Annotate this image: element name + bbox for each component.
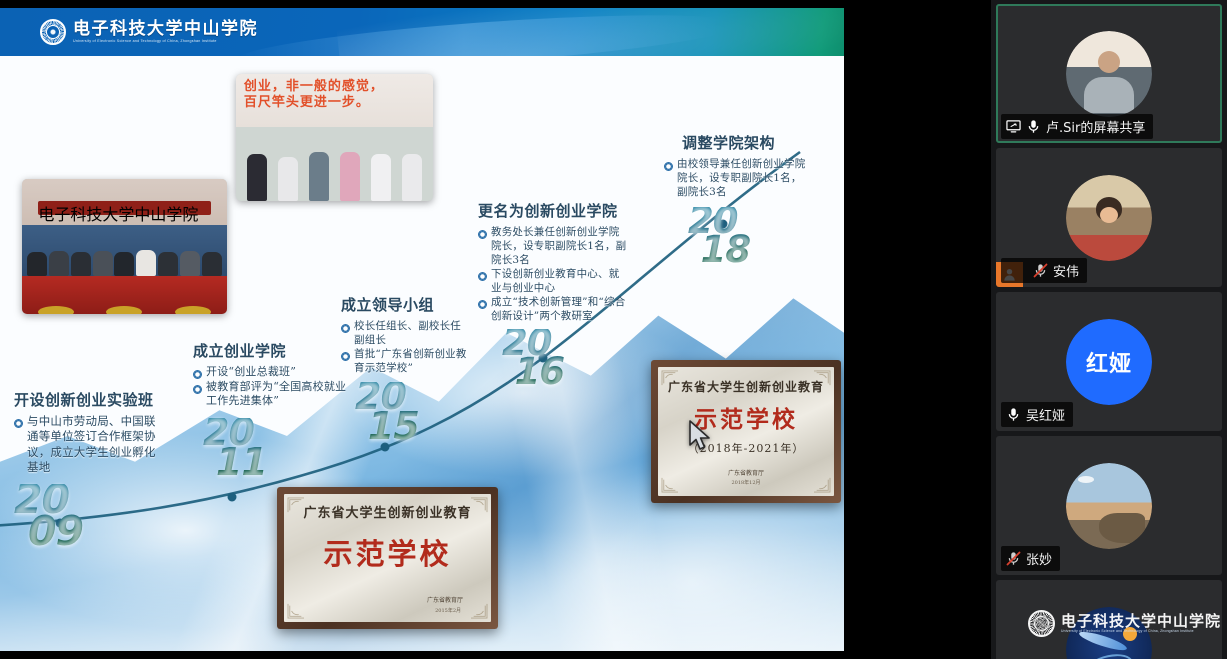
person-figure xyxy=(71,252,91,276)
person-figure xyxy=(180,251,200,276)
watermark-text-group: 电子科技大学中山学院 University of Electronic Scie… xyxy=(1061,614,1221,634)
timeline-bullet: 成立“技术创新管理”和“综合创新设计”两个教研室 xyxy=(478,295,628,323)
participant-name: 吴红娅 xyxy=(1026,405,1065,424)
flower-arrangement xyxy=(38,306,74,314)
team-photo-slogan: 创业，非一般的感觉， 百尺竿头更进一步。 xyxy=(244,79,425,112)
avatar-initials: 红娅 xyxy=(1066,319,1152,405)
person-figure xyxy=(93,251,113,276)
swirl-shape xyxy=(1085,650,1135,659)
participant-namebar: 卢.Sir的屏幕共享 xyxy=(1001,114,1153,139)
slide-header-banner: 电子科技大学中山学院 University of Electronic Scie… xyxy=(0,8,844,56)
plaque-line-1: 广东省大学生创新创业教育 xyxy=(303,502,471,521)
team-photo: 创业，非一般的感觉， 百尺竿头更进一步。 xyxy=(236,74,433,201)
participant-tile-wuhongya[interactable]: 红娅 吴红娅 xyxy=(996,292,1222,431)
plaque-corner-ornament xyxy=(470,497,488,513)
timeline-bullet: 与中山市劳动局、中国联通等单位签订合作框架协议，成立大学生创业孵化基地 xyxy=(14,414,166,476)
university-seal-icon xyxy=(1028,610,1055,637)
plaque-corner-ornament xyxy=(813,370,831,386)
timeline-year-bottom: 18 xyxy=(701,236,826,265)
timeline-bullets: 校长任组长、副校长任副组长 首批“广东省创新创业教育示范学校” xyxy=(341,319,493,375)
plaque-corner-ornament xyxy=(813,477,831,493)
person-figure xyxy=(402,154,422,201)
timeline-bullet: 首批“广东省创新创业教育示范学校” xyxy=(341,347,473,375)
timeline-bullet: 由校领导兼任创新创业学院院长，设专职副院长1名，副院长3名 xyxy=(664,157,810,199)
avatar-photo xyxy=(1066,175,1152,261)
participant-namebar: 张妙 xyxy=(1001,546,1060,571)
participant-tile-anwei[interactable]: 安伟 xyxy=(996,148,1222,287)
plaque-corner-ornament xyxy=(661,477,679,493)
ceremony-photo: 电子科技大学中山学院创业学院揭牌仪式 xyxy=(22,179,227,314)
plaque-line-1: 广东省大学生创新创业教育 xyxy=(668,378,824,395)
plaque-2018: 广东省大学生创新创业教育 示范学校 （2018年-2021年） 广东省教育厅 2… xyxy=(651,360,841,503)
plaque-corner-ornament xyxy=(287,497,305,513)
person-figure xyxy=(309,152,329,201)
team-photo-slogan-line2: 百尺竿头更进一步。 xyxy=(244,95,425,111)
timeline-year-bottom: 16 xyxy=(515,358,656,387)
participant-rail[interactable]: 卢.Sir的屏幕共享 安伟 xyxy=(991,0,1227,659)
timeline-bullets: 由校领导兼任创新创业学院院长，设专职副院长1名，副院长3名 xyxy=(664,157,826,199)
watermark-name-en: University of Electronic Science and Tec… xyxy=(1061,629,1221,633)
plaque-corner-ornament xyxy=(661,370,679,386)
timeline-entry-2018: 调整学院架构 由校领导兼任创新创业学院院长，设专职副院长1名，副院长3名 20 … xyxy=(664,132,826,265)
person-figure xyxy=(202,252,222,276)
plaque-plate: 广东省大学生创新创业教育 示范学校 （2018年-2021年） 广东省教育厅 2… xyxy=(658,367,834,496)
timeline-entry-2009: 开设创新创业实验班 与中山市劳动局、中国联通等单位签订合作框架协议，成立大学生创… xyxy=(14,389,194,548)
timeline-entry-2015: 成立领导小组 校长任组长、副校长任副组长 首批“广东省创新创业教育示范学校” 2… xyxy=(341,294,493,442)
timeline-bullet: 校长任组长、副校长任副组长 xyxy=(341,319,471,347)
person-figure xyxy=(114,252,134,276)
person-figure xyxy=(278,157,298,201)
participant-namebar: 吴红娅 xyxy=(1001,402,1073,427)
ceremony-flowers xyxy=(22,306,227,312)
flower-arrangement xyxy=(106,306,142,314)
timeline-bullet: 下设创新创业教育中心、就业与创业中心 xyxy=(478,267,628,295)
person-figure xyxy=(136,250,156,276)
ceremony-banner-text: 电子科技大学中山学院创业学院揭牌仪式 xyxy=(38,201,210,216)
shared-screen-stage[interactable]: 电子科技大学中山学院 University of Electronic Scie… xyxy=(0,0,991,659)
ceremony-people-row xyxy=(22,228,227,277)
mouse-cursor xyxy=(688,420,714,452)
plaque-date: 2018年12月 xyxy=(731,479,760,486)
presentation-slide: 电子科技大学中山学院 University of Electronic Scie… xyxy=(0,8,844,651)
timeline-bullet: 教务处长兼任创新创业学院院长，设专职副院长1名，副院长3名 xyxy=(478,225,628,267)
timeline-bullets: 与中山市劳动局、中国联通等单位签订合作框架协议，成立大学生创业孵化基地 xyxy=(14,414,194,476)
person-figure xyxy=(371,154,391,201)
timeline-bullet: 被教育部评为“全国高校就业工作先进集体” xyxy=(193,380,353,409)
screen-share-icon xyxy=(1006,119,1021,134)
plaque-plate: 广东省大学生创新创业教育 示范学校 广东省教育厅 2015年2月 xyxy=(284,494,491,622)
plaque-corner-ornament xyxy=(287,603,305,619)
participant-name: 张妙 xyxy=(1026,549,1052,568)
plaque-issuer: 广东省教育厅 xyxy=(427,595,463,604)
plaque-issuer: 广东省教育厅 xyxy=(728,468,764,477)
university-name-group: 电子科技大学中山学院 University of Electronic Scie… xyxy=(73,21,258,44)
plaque-date: 2015年2月 xyxy=(435,607,461,614)
university-name-en: University of Electronic Science and Tec… xyxy=(73,39,258,43)
person-figure xyxy=(158,252,178,276)
timeline-heading: 开设创新创业实验班 xyxy=(14,389,194,410)
avatar: 红娅 xyxy=(1066,319,1152,405)
timeline-bullets: 教务处长兼任创新创业学院院长，设专职副院长1名，副院长3名 下设创新创业教育中心… xyxy=(478,225,656,323)
person-figure xyxy=(27,252,47,276)
timeline-entry-2016: 更名为创新创业学院 教务处长兼任创新创业学院院长，设专职副院长1名，副院长3名 … xyxy=(478,200,656,387)
university-logo: 电子科技大学中山学院 University of Electronic Scie… xyxy=(40,19,258,45)
person-figure xyxy=(247,154,267,201)
plaque-line-2: 示范学校 xyxy=(323,531,451,573)
avatar-photo xyxy=(1066,31,1152,117)
timeline-year-bottom: 09 xyxy=(28,516,194,548)
plaque-corner-ornament xyxy=(470,603,488,619)
ceremony-table xyxy=(22,276,227,314)
timeline-heading: 调整学院架构 xyxy=(664,132,826,153)
watermark-name-cn: 电子科技大学中山学院 xyxy=(1061,614,1221,630)
participant-name: 安伟 xyxy=(1053,261,1079,280)
timeline-year: 20 16 xyxy=(502,329,656,387)
plaque-2015: 广东省大学生创新创业教育 示范学校 广东省教育厅 2015年2月 xyxy=(277,487,498,629)
microphone-icon xyxy=(1026,119,1041,134)
person-figure xyxy=(340,152,360,201)
participant-name: 卢.Sir的屏幕共享 xyxy=(1046,117,1145,136)
university-name-cn: 电子科技大学中山学院 xyxy=(73,21,258,39)
team-photo-slogan-line1: 创业，非一般的感觉， xyxy=(244,79,425,95)
timeline-year: 20 15 xyxy=(355,382,493,441)
microphone-muted-icon xyxy=(1006,551,1021,566)
timeline-year: 20 09 xyxy=(14,484,194,548)
participant-tile-zhangmiao[interactable]: 张妙 xyxy=(996,436,1222,575)
meeting-window: 电子科技大学中山学院 University of Electronic Scie… xyxy=(0,0,1227,659)
team-photo-people xyxy=(236,122,433,201)
timeline-year-bottom: 15 xyxy=(368,412,493,442)
participant-namebar: 安伟 xyxy=(1001,258,1087,283)
timeline-year-bottom: 11 xyxy=(216,448,375,478)
timeline-year: 20 18 xyxy=(688,207,826,265)
university-watermark: 电子科技大学中山学院 University of Electronic Scie… xyxy=(1028,610,1221,637)
flower-arrangement xyxy=(175,306,211,314)
university-seal-icon xyxy=(40,19,66,45)
avatar xyxy=(1066,31,1152,117)
avatar xyxy=(1066,463,1152,549)
person-figure xyxy=(49,251,69,276)
avatar-photo xyxy=(1066,463,1152,549)
participant-tile-sharing[interactable]: 卢.Sir的屏幕共享 xyxy=(996,4,1222,143)
microphone-icon xyxy=(1006,407,1021,422)
timeline-heading: 成立领导小组 xyxy=(341,294,493,315)
avatar xyxy=(1066,175,1152,261)
timeline-heading: 更名为创新创业学院 xyxy=(478,200,656,221)
microphone-muted-icon xyxy=(1033,263,1048,278)
